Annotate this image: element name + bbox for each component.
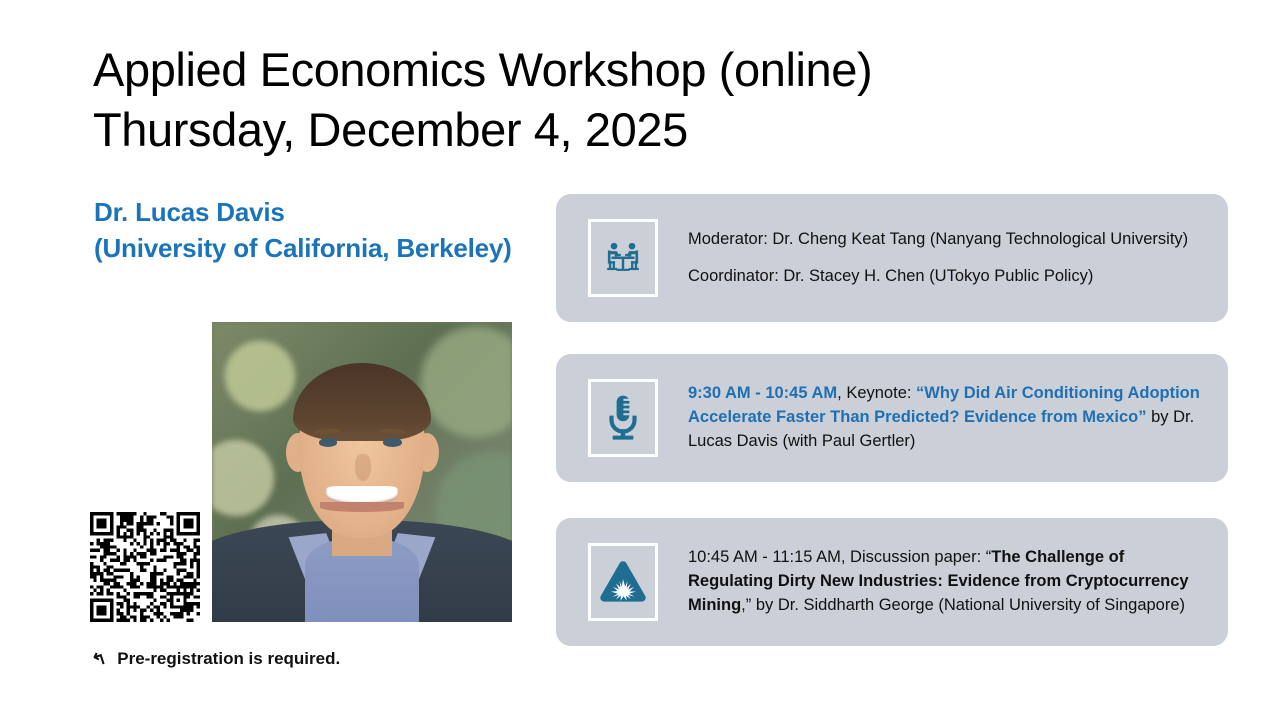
- microphone-icon: [588, 379, 658, 457]
- qr-code[interactable]: [90, 512, 200, 622]
- speaker-name-heading: Dr. Lucas Davis (University of Californi…: [94, 194, 524, 267]
- speaker-portrait-photo: [212, 322, 512, 622]
- card-keynote-text: 9:30 AM - 10:45 AM, Keynote: “Why Did Ai…: [688, 382, 1214, 453]
- explosion-hazard-triangle-icon: [588, 543, 658, 621]
- pre-registration-note: ↰ Pre-registration is required.: [92, 649, 340, 669]
- card-text-line: Coordinator: Dr. Stacey H. Chen (UTokyo …: [688, 265, 1214, 289]
- people-at-table-icon: [588, 219, 658, 297]
- portrait-eye-left: [319, 438, 338, 446]
- portrait-lower-lip: [320, 502, 404, 512]
- text-segment: 9:30 AM - 10:45 AM: [688, 384, 837, 402]
- card-hosts-text: Moderator: Dr. Cheng Keat Tang (Nanyang …: [688, 228, 1214, 289]
- pre-registration-label: Pre-registration is required.: [117, 649, 340, 669]
- text-segment: 10:45 AM - 11:15 AM, Discussion paper: “: [688, 548, 991, 566]
- text-segment: Coordinator: Dr. Stacey H. Chen (UTokyo …: [688, 267, 1093, 285]
- card-paper-text: 10:45 AM - 11:15 AM, Discussion paper: “…: [688, 546, 1214, 617]
- qr-code-canvas: [90, 512, 200, 622]
- card-text-line: Moderator: Dr. Cheng Keat Tang (Nanyang …: [688, 228, 1214, 252]
- page-title: Applied Economics Workshop (online) Thur…: [93, 40, 1093, 160]
- portrait-eye-right: [383, 438, 402, 446]
- card-text-line: 10:45 AM - 11:15 AM, Discussion paper: “…: [688, 546, 1214, 617]
- text-segment: , Keynote:: [837, 384, 916, 402]
- card-paper: 10:45 AM - 11:15 AM, Discussion paper: “…: [556, 518, 1228, 646]
- text-segment: Moderator: Dr. Cheng Keat Tang (Nanyang …: [688, 230, 1188, 248]
- card-keynote: 9:30 AM - 10:45 AM, Keynote: “Why Did Ai…: [556, 354, 1228, 482]
- card-text-line: 9:30 AM - 10:45 AM, Keynote: “Why Did Ai…: [688, 382, 1214, 453]
- curved-arrow-icon: ↰: [90, 649, 109, 670]
- text-segment: ,” by Dr. Siddharth George (National Uni…: [741, 596, 1185, 614]
- portrait-nose: [355, 454, 372, 481]
- card-hosts: Moderator: Dr. Cheng Keat Tang (Nanyang …: [556, 194, 1228, 322]
